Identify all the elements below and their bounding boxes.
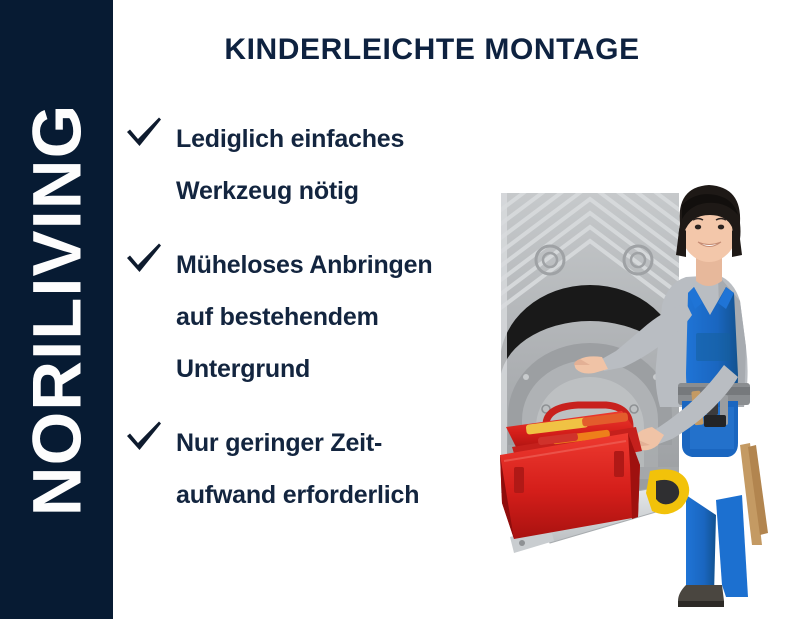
checkmark-icon — [124, 115, 164, 149]
checkmark-icon — [124, 419, 164, 453]
worker-with-panel-illustration: 1 — [490, 115, 799, 619]
brand-name: NORILIVING — [22, 103, 91, 516]
list-item: Lediglich einfaches Werkzeug nötig — [124, 113, 524, 217]
page-title: KINDERLEICHTE MONTAGE — [152, 33, 712, 67]
list-item-line: Müheloses Anbringen — [176, 239, 524, 291]
list-item-line: Werkzeug nötig — [176, 165, 524, 217]
list-item-line: aufwand erforderlich — [176, 469, 524, 521]
checkmark-icon — [124, 241, 164, 275]
brand-sidebar: NORILIVING — [0, 0, 113, 619]
list-item-line: Untergrund — [176, 343, 524, 395]
benefits-list: Lediglich einfaches Werkzeug nötig Mühel… — [124, 113, 524, 543]
list-item-line: Lediglich einfaches — [176, 113, 524, 165]
list-item: Müheloses Anbringen auf bestehendem Unte… — [124, 239, 524, 395]
list-item: Nur geringer Zeit- aufwand erforderlich — [124, 417, 524, 521]
list-item-line: Nur geringer Zeit- — [176, 417, 524, 469]
list-item-line: auf bestehendem — [176, 291, 524, 343]
product-photo: 1 — [490, 115, 799, 619]
promo-banner: NORILIVING KINDERLEICHTE MONTAGE Ledigli… — [0, 0, 799, 619]
red-toolbox — [500, 405, 642, 539]
